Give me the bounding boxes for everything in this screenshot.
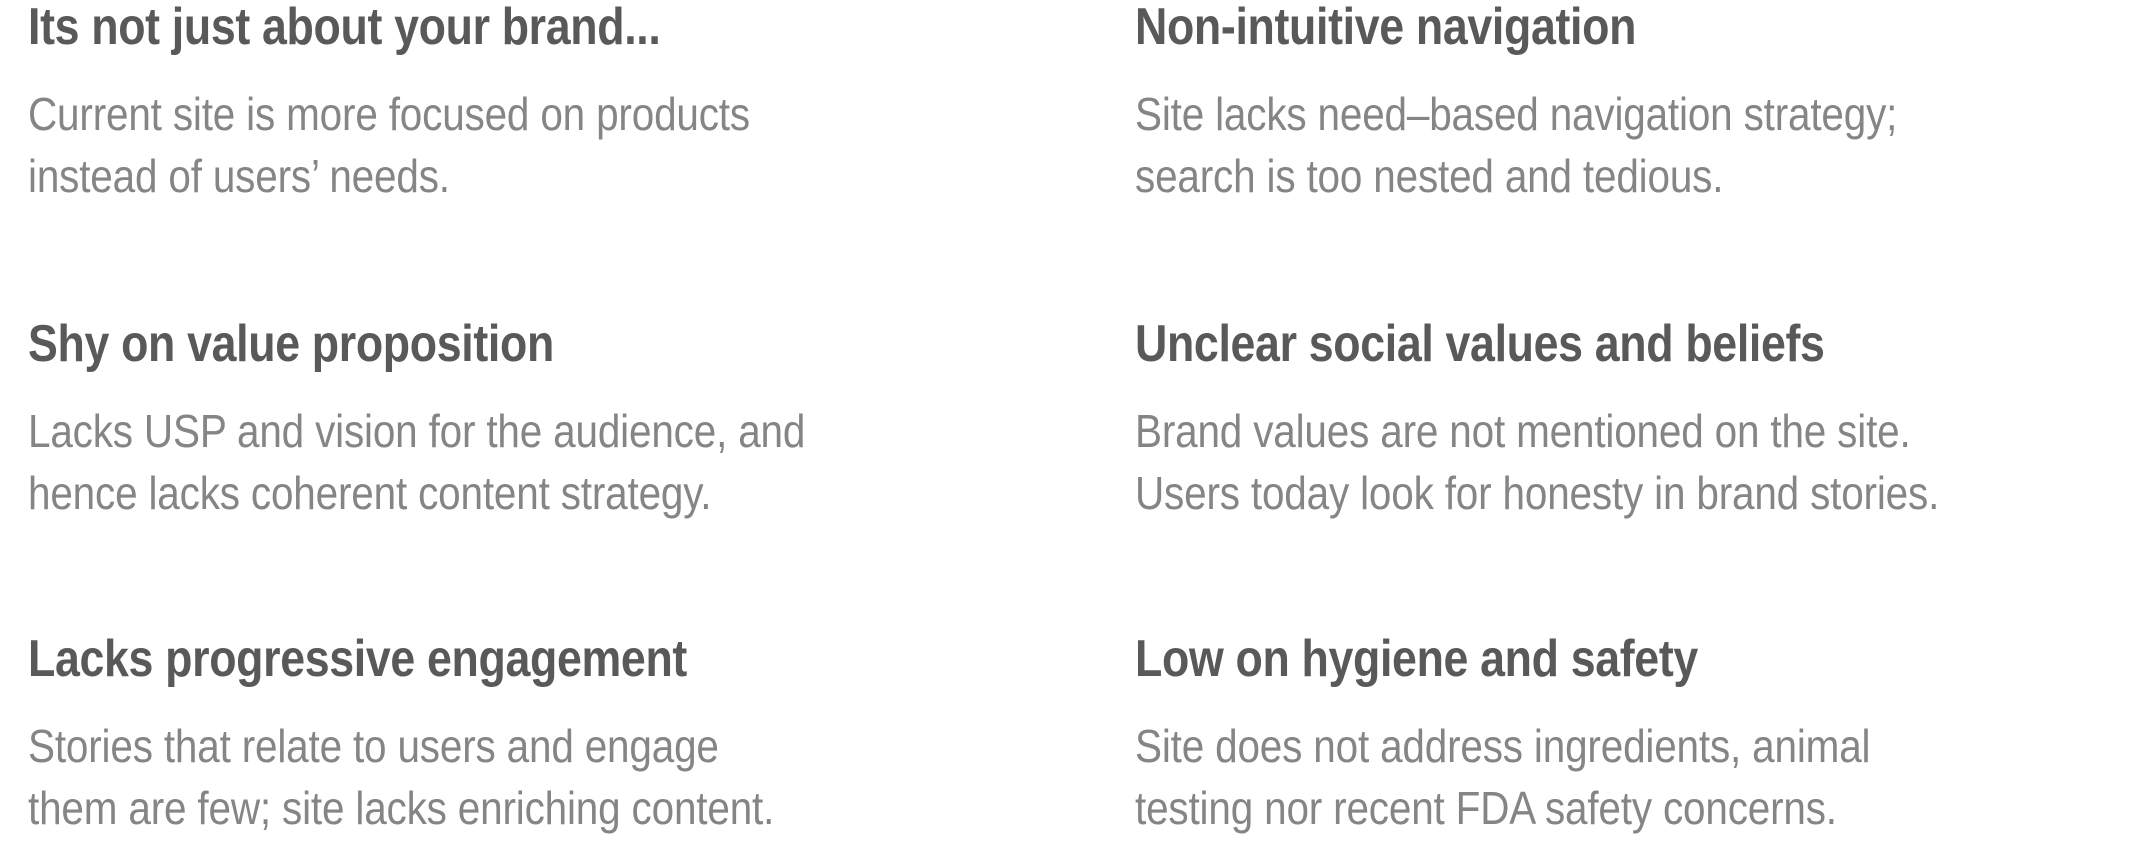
finding-description: Brand values are not mentioned on the si…: [1135, 400, 2011, 524]
finding-description: Current site is more focused on products…: [28, 83, 1002, 207]
finding-description: Site lacks need–based navigation strateg…: [1135, 83, 2011, 207]
findings-page: Its not just about your brand... Current…: [0, 0, 2131, 861]
finding-card-3: Shy on value proposition Lacks USP and v…: [28, 315, 1135, 630]
finding-title: Lacks progressive engagement: [28, 630, 980, 688]
finding-description: Lacks USP and vision for the audience, a…: [28, 400, 1002, 524]
finding-title: Shy on value proposition: [28, 315, 980, 373]
finding-card-1: Its not just about your brand... Current…: [28, 0, 1135, 315]
finding-card-6: Low on hygiene and safety Site does not …: [1135, 630, 2131, 861]
finding-title: Non-intuitive navigation: [1135, 0, 1992, 56]
findings-grid: Its not just about your brand... Current…: [0, 0, 2131, 861]
finding-card-4: Unclear social values and beliefs Brand …: [1135, 315, 2131, 630]
finding-description: Site does not address ingredients, anima…: [1135, 715, 2011, 839]
finding-title: Low on hygiene and safety: [1135, 630, 1992, 688]
finding-card-2: Non-intuitive navigation Site lacks need…: [1135, 0, 2131, 315]
finding-title: Unclear social values and beliefs: [1135, 315, 1992, 373]
finding-title: Its not just about your brand...: [28, 0, 980, 56]
finding-card-5: Lacks progressive engagement Stories tha…: [28, 630, 1135, 861]
finding-description: Stories that relate to users and engage …: [28, 715, 1002, 839]
